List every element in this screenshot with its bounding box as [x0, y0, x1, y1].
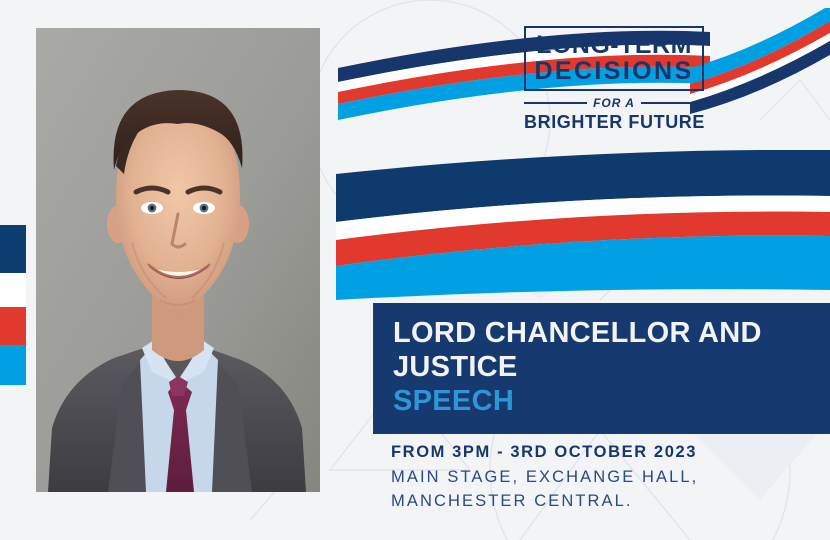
- stripe-navy: [0, 225, 26, 273]
- event-venue-line-2: MANCHESTER CENTRAL.: [391, 489, 821, 513]
- logo-rule-left: [524, 102, 587, 104]
- poster-canvas: LONG-TERM DECISIONS FOR A BRIGHTER FUTUR…: [0, 0, 830, 540]
- left-edge-stripes: [0, 225, 26, 385]
- headline-panel: LORD CHANCELLOR AND JUSTICE SPEECH: [373, 303, 830, 434]
- headline-line-3: SPEECH: [373, 384, 830, 418]
- event-venue-line-1: MAIN STAGE, EXCHANGE HALL,: [391, 465, 821, 489]
- ribbon-main-band: [330, 150, 830, 300]
- logo-box: LONG-TERM DECISIONS: [524, 26, 704, 91]
- portrait-photo: [36, 28, 320, 492]
- event-time: FROM 3PM - 3RD OCTOBER 2023: [391, 440, 821, 465]
- headline-line-2: JUSTICE: [373, 350, 830, 384]
- campaign-logo: LONG-TERM DECISIONS FOR A BRIGHTER FUTUR…: [524, 26, 704, 133]
- logo-line-brighter-future: BRIGHTER FUTURE: [524, 113, 704, 133]
- logo-for-a-row: FOR A: [524, 96, 704, 110]
- portrait-frame: [36, 28, 320, 492]
- stripe-light-blue: [0, 345, 26, 385]
- logo-line-for-a: FOR A: [593, 96, 635, 110]
- headline-line-1: LORD CHANCELLOR AND: [373, 303, 830, 350]
- ribbon-top-right: [690, 8, 830, 118]
- stripe-red: [0, 307, 26, 345]
- stripe-white: [0, 273, 26, 307]
- logo-rule-right: [641, 102, 704, 104]
- logo-line-decisions: DECISIONS: [534, 59, 694, 84]
- event-details: FROM 3PM - 3RD OCTOBER 2023 MAIN STAGE, …: [391, 440, 821, 514]
- logo-line-long-term: LONG-TERM: [534, 34, 694, 58]
